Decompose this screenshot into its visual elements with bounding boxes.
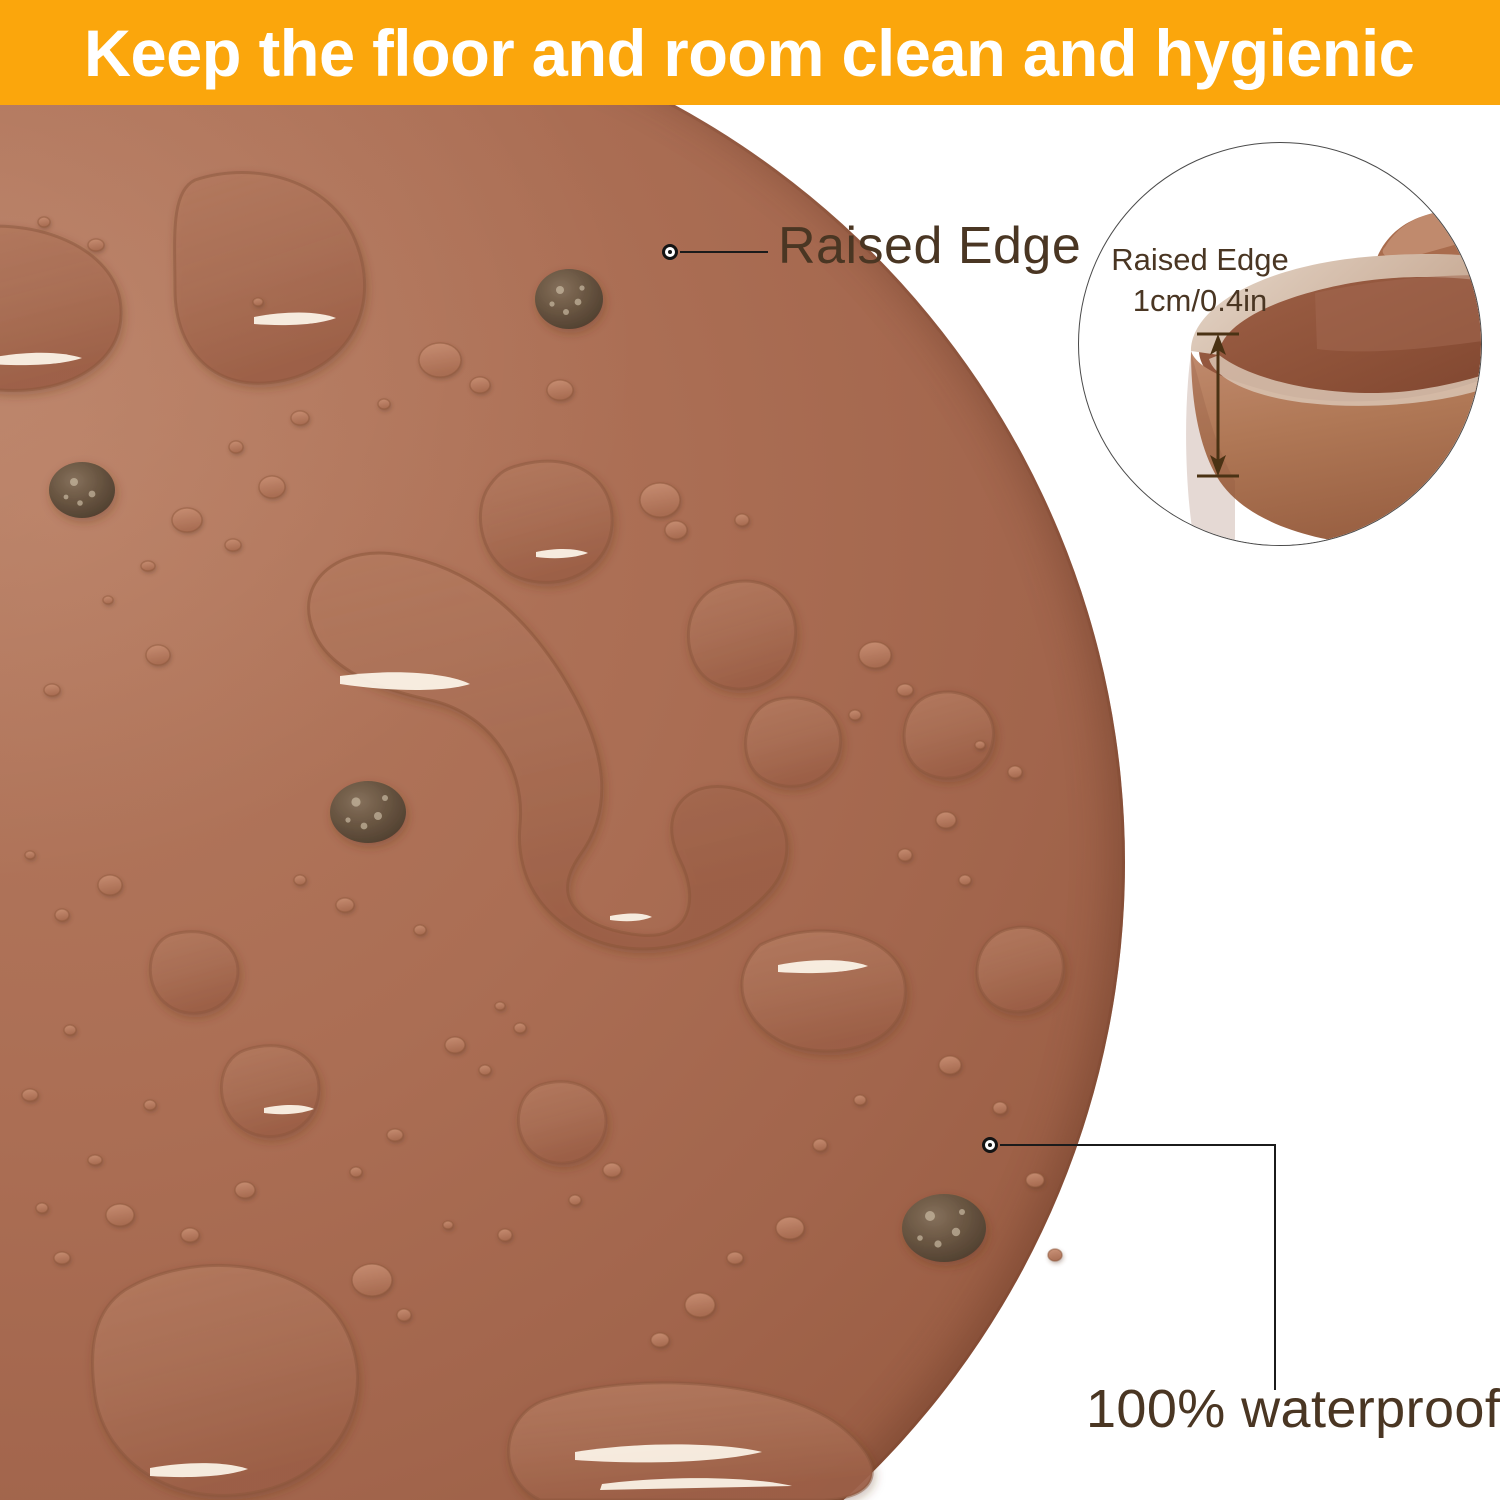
dimension-arrow [1177, 325, 1257, 485]
inset-caption: Raised Edge 1cm/0.4in [1095, 239, 1305, 321]
waterproof-anchor-dot [982, 1137, 998, 1153]
headline-text: Keep the floor and room clean and hygien… [84, 9, 1414, 97]
raised-edge-detail-inset: Raised Edge 1cm/0.4in [1078, 142, 1482, 546]
pet-tray-body [0, 105, 1125, 1500]
waterproof-label: 100% waterproof [1086, 1378, 1500, 1440]
raised-edge-label: Raised Edge [778, 216, 1081, 276]
waterproof-leader-vertical [1274, 1144, 1276, 1390]
inset-edge-photo [1079, 143, 1482, 546]
headline-banner: Keep the floor and room clean and hygien… [0, 0, 1500, 105]
waterproof-leader-horizontal [1000, 1144, 1276, 1146]
product-feature-image: Keep the floor and room clean and hygien… [0, 0, 1500, 1500]
raised-edge-anchor-dot [662, 244, 678, 260]
tray-outline [0, 105, 1125, 1500]
raised-edge-leader-line [680, 251, 768, 253]
